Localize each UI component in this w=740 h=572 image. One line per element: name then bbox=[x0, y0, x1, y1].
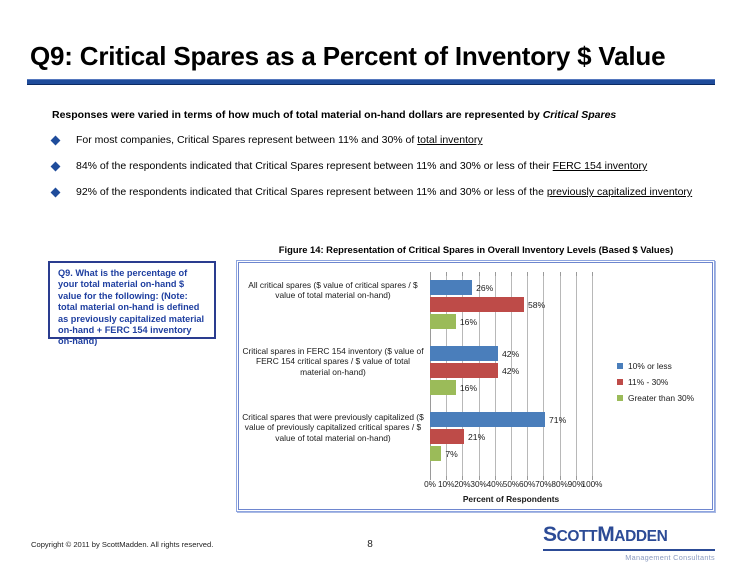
chart-legend-swatch bbox=[617, 395, 623, 401]
chart-tickmark bbox=[495, 272, 496, 276]
chart-legend-swatch bbox=[617, 363, 623, 369]
chart-tickmark bbox=[511, 272, 512, 276]
chart-x-tick-label: 100% bbox=[582, 480, 603, 489]
chart-bar-value-label: 16% bbox=[460, 383, 477, 393]
chart-tickmark bbox=[430, 272, 431, 276]
diamond-bullet-icon bbox=[51, 188, 61, 198]
logo-tagline: Management Consultants bbox=[543, 553, 715, 562]
chart-category-label: Critical spares that were previously cap… bbox=[242, 412, 424, 443]
bullet-item-text: 92% of the respondents indicated that Cr… bbox=[76, 185, 707, 199]
chart-x-tick-label: 0% bbox=[424, 480, 436, 489]
chart-legend-swatch bbox=[617, 379, 623, 385]
chart-bar-value-label: 71% bbox=[549, 415, 566, 425]
chart-bar-row: 16% bbox=[430, 314, 592, 329]
chart-bar-value-label: 16% bbox=[460, 317, 477, 327]
logo-wordmark: SCOTTMADDEN bbox=[543, 524, 715, 551]
bullet-text-before: 92% of the respondents indicated that Cr… bbox=[76, 186, 547, 198]
bullet-text-before: For most companies, Critical Spares repr… bbox=[76, 134, 417, 146]
chart-x-tick-label: 50% bbox=[503, 480, 519, 489]
bullet-item-text: 84% of the respondents indicated that Cr… bbox=[76, 159, 707, 173]
lead-statement-prefix: Responses were varied in terms of how mu… bbox=[52, 109, 543, 121]
copyright-notice: Copyright © 2011 by ScottMadden. All rig… bbox=[31, 540, 213, 549]
chart-tickmark bbox=[543, 272, 544, 276]
chart-bar bbox=[430, 314, 456, 329]
chart-tickmark bbox=[462, 272, 463, 276]
bullet-text-underlined: previously capitalized inventory bbox=[547, 186, 692, 198]
chart-bar-value-label: 26% bbox=[476, 283, 493, 293]
chart-category-group: Critical spares that were previously cap… bbox=[430, 412, 592, 468]
lead-statement-emphasis: Critical Spares bbox=[543, 109, 617, 121]
chart-bar-row: 7% bbox=[430, 446, 592, 461]
chart-bar-value-label: 42% bbox=[502, 349, 519, 359]
chart-x-tick-label: 60% bbox=[519, 480, 535, 489]
chart-bar bbox=[430, 363, 498, 378]
chart-gridline bbox=[592, 276, 593, 476]
chart-x-tick-label: 80% bbox=[551, 480, 567, 489]
logo-s: S bbox=[543, 523, 557, 546]
bullet-text-underlined: total inventory bbox=[417, 134, 482, 146]
chart-bar-value-label: 58% bbox=[528, 300, 545, 310]
chart-x-tick-label: 20% bbox=[454, 480, 470, 489]
chart-legend-label: 11% - 30% bbox=[628, 377, 668, 387]
lead-statement: Responses were varied in terms of how mu… bbox=[52, 108, 712, 122]
chart-bar bbox=[430, 280, 472, 295]
chart-x-tick-label: 10% bbox=[438, 480, 454, 489]
bullet-item-text: For most companies, Critical Spares repr… bbox=[76, 133, 707, 147]
chart-bar-row: 16% bbox=[430, 380, 592, 395]
chart-legend-label: Greater than 30% bbox=[628, 393, 694, 403]
chart-x-tick-label: 30% bbox=[470, 480, 486, 489]
bullet-item: For most companies, Critical Spares repr… bbox=[52, 133, 707, 147]
logo-cott: COTT bbox=[557, 528, 598, 545]
chart-bar-row: 21% bbox=[430, 429, 592, 444]
chart-bar bbox=[430, 297, 524, 312]
chart-bar bbox=[430, 380, 456, 395]
chart-category-group: All critical spares ($ value of critical… bbox=[430, 280, 592, 336]
question-callout-box: Q9. What is the percentage of your total… bbox=[48, 261, 216, 339]
chart-bar-row: 26% bbox=[430, 280, 592, 295]
bullet-text-underlined: FERC 154 inventory bbox=[553, 160, 648, 172]
chart-tickmark bbox=[576, 272, 577, 276]
chart-tickmark bbox=[479, 272, 480, 276]
title-underline-rule bbox=[27, 79, 715, 85]
chart-bar-row: 42% bbox=[430, 363, 592, 378]
chart-x-axis-tick-labels: 0%10%20%30%40%50%60%70%80%90%100% bbox=[430, 480, 592, 492]
chart-tickmark bbox=[446, 272, 447, 276]
chart-x-tick-label: 70% bbox=[535, 480, 551, 489]
chart-bar-row: 58% bbox=[430, 297, 592, 312]
chart-legend: 10% or less11% - 30%Greater than 30% bbox=[617, 361, 713, 409]
figure-caption: Figure 14: Representation of Critical Sp… bbox=[236, 244, 716, 255]
logo-adden: ADDEN bbox=[614, 528, 667, 545]
chart-container: All critical spares ($ value of critical… bbox=[236, 260, 715, 512]
chart-category-label: All critical spares ($ value of critical… bbox=[242, 280, 424, 301]
chart-tickmark bbox=[527, 272, 528, 276]
chart-legend-item: Greater than 30% bbox=[617, 393, 713, 403]
chart-tickmark bbox=[560, 272, 561, 276]
chart-bar-value-label: 42% bbox=[502, 366, 519, 376]
chart-bar bbox=[430, 429, 464, 444]
chart-x-axis-title: Percent of Respondents bbox=[430, 494, 592, 504]
bullet-text-before: 84% of the respondents indicated that Cr… bbox=[76, 160, 553, 172]
chart-legend-item: 10% or less bbox=[617, 361, 713, 371]
page-title: Q9: Critical Spares as a Percent of Inve… bbox=[30, 40, 720, 72]
bullet-item: 92% of the respondents indicated that Cr… bbox=[52, 185, 707, 199]
chart-bar-row: 71% bbox=[430, 412, 592, 427]
diamond-bullet-icon bbox=[51, 162, 61, 172]
diamond-bullet-icon bbox=[51, 136, 61, 146]
chart-category-label: Critical spares in FERC 154 inventory ($… bbox=[242, 346, 424, 377]
chart-legend-item: 11% - 30% bbox=[617, 377, 713, 387]
bullet-item: 84% of the respondents indicated that Cr… bbox=[52, 159, 707, 173]
chart-bar-value-label: 21% bbox=[468, 432, 485, 442]
chart-plot-area: All critical spares ($ value of critical… bbox=[430, 276, 592, 476]
scottmadden-logo: SCOTTMADDEN Management Consultants bbox=[543, 524, 715, 558]
chart-bar bbox=[430, 346, 498, 361]
chart-x-tick-label: 40% bbox=[487, 480, 503, 489]
chart-bar bbox=[430, 446, 441, 461]
page-number: 8 bbox=[355, 539, 385, 550]
chart-category-group: Critical spares in FERC 154 inventory ($… bbox=[430, 346, 592, 402]
chart-bar bbox=[430, 412, 545, 427]
chart-legend-label: 10% or less bbox=[628, 361, 672, 371]
chart-tickmark bbox=[592, 272, 593, 276]
logo-m: M bbox=[597, 523, 614, 546]
chart-bar-value-label: 7% bbox=[445, 449, 457, 459]
chart-bar-row: 42% bbox=[430, 346, 592, 361]
